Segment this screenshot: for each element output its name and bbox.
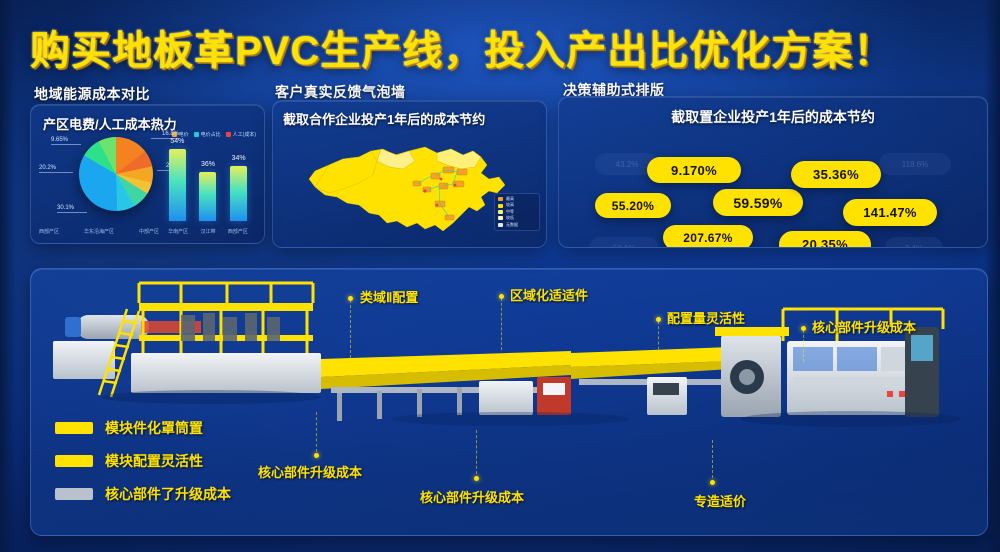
cost-saving-bubble[interactable]: 55.20% [595,193,671,218]
machine-callout-label[interactable]: 类域Ⅱ配置 [360,287,418,306]
legend-label-0: 模块件化罩筒置 [105,418,203,438]
cost-saving-bubble[interactable]: 35.36% [791,161,881,188]
ghost-bubble: 118.6% [879,153,951,175]
pie-label-3: 20.2% [39,165,73,173]
ghost-bubble: 62.1% [589,237,659,248]
machine-callout-label[interactable]: 专造适价 [694,491,746,510]
bar-2: 34% [230,166,247,221]
callout-leader-line [658,321,659,365]
callout-leader-line [803,330,804,362]
machine-legend: 模块件化罩筒置 模块配置灵活性 核心部件了升级成本 [55,418,231,517]
bar-0: 54% [169,149,186,221]
legend-label-1: 模块配置灵活性 [105,451,203,471]
machine-legend-item-1: 模块配置灵活性 [55,451,231,471]
xtick-1: 汉江带 [200,228,215,235]
machine-callout-label[interactable]: 区域化适适件 [510,285,588,304]
legend-swatch-icon [55,455,93,467]
panel-header-left: 地域能源成本对比 [34,84,150,104]
cost-saving-bubble[interactable]: 141.47% [843,199,937,226]
cost-saving-bubble[interactable]: 59.59% [713,189,803,216]
bubble-chart-title: 截取置企业投产1年后的成本节约 [559,107,987,127]
callout-leader-line [350,300,351,358]
pie-cat-0: 西部产区 [39,228,59,235]
map-legend-item-4: 无数据 [498,222,536,228]
map-title: 截取合作企业投产1年后的成本节约 [283,109,485,128]
left-edge-shade [0,0,16,552]
pie-label-2: 30.1% [57,205,87,213]
page-title: 购买地板革PVC生产线，投入产出比优化方案！ [30,18,970,76]
pie-chart [79,137,153,211]
bubble-card-cost-savings: 截取置企业投产1年后的成本节约 43.2%118.6%62.1%9.4% 9.1… [558,96,988,248]
pie-category-axis: 西部产区 华东沿海产区 中部产区 [39,228,159,235]
cost-saving-bubble[interactable]: 207.67% [663,225,753,248]
bar-xaxis: 华南产区 汉江带 西部产区 [162,228,254,235]
callout-dot-icon [710,480,715,485]
bar-chart: 54% 36% 34% [162,133,254,221]
machine-legend-item-2: 核心部件了升级成本 [55,484,231,504]
pie-cat-1: 华东沿海产区 [84,228,114,235]
legend-swatch-icon [55,488,93,500]
panel-header-middle: 客户真实反馈气泡墙 [275,82,406,102]
pie-label-4: 9.65% [51,137,81,145]
cost-saving-bubble[interactable]: 20.35% [779,231,871,248]
callout-leader-line [476,430,477,474]
ghost-bubble: 9.4% [885,237,943,248]
machine-legend-item-0: 模块件化罩筒置 [55,418,231,438]
bar-1: 36% [199,172,216,221]
callout-dot-icon [474,476,479,481]
callout-dot-icon [314,453,319,458]
chart-card-energy-cost: 产区电费/人工成本热力 电价 电价占比 人工(成本) 16.8% 22.9% 3… [30,104,265,244]
pie-cat-2: 中部产区 [139,228,159,235]
machine-callout-label[interactable]: 核心部件升级成本 [420,487,524,506]
callout-leader-line [501,298,502,350]
xtick-2: 西部产区 [228,228,248,235]
legend-label-2: 核心部件了升级成本 [105,484,231,504]
machine-callout-label[interactable]: 核心部件升级成本 [258,462,362,481]
machine-callout-label[interactable]: 配置量灵活性 [667,308,745,327]
machine-callout-label[interactable]: 核心部件升级成本 [812,317,916,336]
legend-swatch-icon [55,422,93,434]
callout-leader-line [712,440,713,478]
xtick-0: 华南产区 [168,228,188,235]
map-legend: 最高 较高 中等 较低 无数据 [494,193,540,231]
callout-leader-line [316,412,317,452]
cost-saving-bubble[interactable]: 9.170% [647,157,741,183]
map-card-customer-feedback: 截取合作企业投产1年后的成本节约 [272,100,547,248]
